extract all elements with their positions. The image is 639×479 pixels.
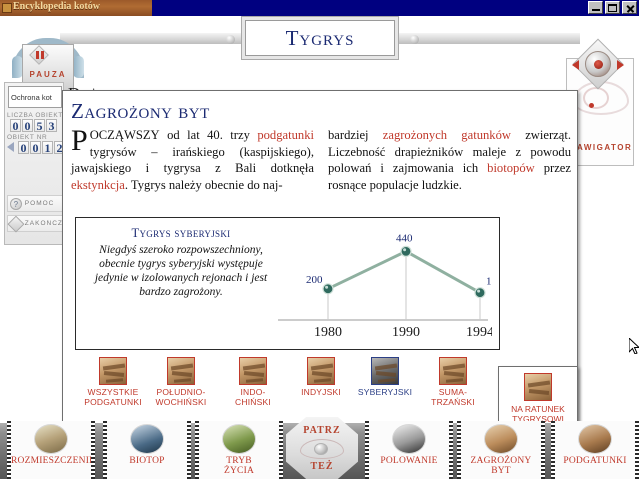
subspecies-label: SUMA-TRZAŃSKI [417,387,489,407]
subspecies-thumbnail-row: WSZYSTKIEPODGATUNKIPOŁUDNIO-WOCHIŃSKIIND… [77,357,547,423]
data-point [475,288,485,298]
app-title-text: Encyklopedia kotów [13,1,100,12]
line-chart-svg: 200440175 198019901994 [274,224,492,344]
bottom-nav-item[interactable]: BIOTOP [104,421,190,479]
endangered-icon [484,424,518,454]
question-mark-icon: ? [10,198,22,210]
application-window: Encyklopedia kotów Tygrys PAUZA [0,0,639,479]
tiger-thumb-icon [167,357,195,385]
window-titlebar: Encyklopedia kotów [0,0,639,16]
subspecies-item[interactable]: INDYJSKI [285,357,357,397]
x-tick-label: 1980 [314,325,342,340]
article-column-2: bardziej zagrożonych gatunków zwierząt. … [328,127,571,193]
subspecies-label: INDYJSKI [285,387,357,397]
bottom-nav-item[interactable]: POLOWANIE [366,421,452,479]
keyword-link-zagrozonych-gatunkow[interactable]: zagrożonych gatunków [383,128,511,142]
tiger-thumb-icon [439,357,467,385]
lifestyle-icon [222,424,256,454]
subspecies-item[interactable]: POŁUDNIO-WOCHIŃSKI [145,357,217,407]
habitat-icon [130,424,164,454]
bottom-nav-label: PODGATUNKI [555,456,635,466]
data-point-label: 440 [396,232,413,244]
pause-label: PAUZA [12,70,84,79]
keyword-link-podgatunki[interactable]: podgatunki [257,128,314,142]
help-label: POMOC [25,200,62,207]
bottom-nav-item[interactable]: TRYBŻYCIA [196,421,282,479]
chart-title: Tygrys syberyjski [86,226,276,241]
maximize-button[interactable] [605,1,620,14]
bottom-navigation-bar: ROZMIESZCZENIEBIOTOPTRYBŻYCIAPOLOWANIEZA… [0,423,639,479]
navigator-dial[interactable] [572,38,624,90]
x-tick-label: 1990 [392,325,420,340]
series-markers [323,246,485,297]
article-column-1: POCZĄWSZY od lat 40. trzy podgatunki tyg… [71,127,314,193]
subspecies-label: SYBERYJSKI [349,387,421,397]
hunting-icon [392,424,426,454]
maximize-icon [608,4,617,12]
arrow-right-icon[interactable] [617,60,624,70]
subspecies-label: POŁUDNIO-WOCHIŃSKI [145,387,217,407]
help-button[interactable]: ? POMOC [7,195,63,212]
window-controls [588,1,637,14]
chart-description: Tygrys syberyjski Niegdyś szeroko rozpow… [86,226,276,299]
minimize-icon [592,9,600,11]
subspecies-icon [578,424,612,454]
data-point [323,284,333,294]
app-title-banner: Encyklopedia kotów [0,0,152,16]
chart-plot: 200440175 198019901994 [274,224,492,344]
data-point-label: 175 [486,276,492,288]
object-count-label: LICZBA OBIEKT [7,112,65,119]
x-axis-tick-labels: 198019901994 [314,325,492,340]
panel-heading: Zagrożony byt [63,91,577,124]
see-also-label-line2: TEŻ [282,461,362,472]
bottom-nav-label: ROZMIESZCZENIE [11,456,91,466]
article-smallcaps-run: OCZĄWSZY [90,128,160,142]
search-input[interactable]: Ochrona kot [8,86,62,108]
article-text-run: . Tygrys należy obecnie do naj- [125,178,283,192]
mouse-cursor [629,338,639,354]
article-dropcap: P [71,127,90,153]
data-point-label: 200 [306,274,323,286]
see-also-label-line1: PATRZ [282,425,362,436]
navigator-knob[interactable] [585,51,611,77]
bottom-nav-label: TRYBŻYCIA [199,456,279,476]
quit-label: ZAKOŃCZ [25,220,62,227]
tiger-thumb-icon [239,357,267,385]
count-digit: 5 [34,119,45,132]
data-point [401,246,411,256]
object-number-value: 0 0 1 2 [18,141,65,154]
quit-button[interactable]: ZAKOŃCZ [7,215,63,232]
eye-pupil-icon [589,103,594,108]
bottom-nav-item[interactable]: PODGATUNKI [552,421,638,479]
arrow-left-icon[interactable] [572,60,579,70]
see-also-button[interactable]: PATRZ TEŻ [282,417,362,479]
eye-pupil-icon [314,443,328,455]
tiger-thumb-icon [371,357,399,385]
tiger-thumb-icon [524,373,552,401]
minimize-button[interactable] [588,1,603,14]
chart-caption: Niegdyś szeroko rozpowszechniony, obecni… [86,243,276,299]
left-toolbar: Ochrona kot LICZBA OBIEKT 0 0 5 3 OBIEKT… [4,82,64,245]
object-number-label: OBIEKT NR [7,134,65,141]
subspecies-item[interactable]: SYBERYJSKI [349,357,421,397]
chart-card: Tygrys syberyjski Niegdyś szeroko rozpow… [75,217,500,350]
article-text-run: od lat 40. trzy [160,128,258,142]
series-line [328,251,480,292]
object-digit: 0 [18,141,29,154]
tiger-thumb-icon [307,357,335,385]
bottom-nav-label: ZAGROŻONYBYT [461,456,541,476]
rail-knob-right [410,35,419,44]
bottom-nav-label: POLOWANIE [369,456,449,466]
app-icon [2,3,12,13]
count-digit: 0 [22,119,33,132]
article-text-run: tygrysów – irańskiego (kaspijskiego), ja… [71,145,314,176]
eye-iris-icon [583,87,609,109]
keyword-link-ekstynkcja[interactable]: ekstynkcja [71,178,125,192]
bottom-nav-item[interactable]: ROZMIESZCZENIE [8,421,94,479]
world-map-icon [34,424,68,454]
object-digit: 1 [42,141,53,154]
page-title: Tygrys [286,26,355,51]
tiger-thumb-icon [99,357,127,385]
close-button[interactable] [622,1,637,14]
bottom-nav-label: BIOTOP [107,456,187,466]
object-digit: 0 [30,141,41,154]
data-point-highlight [325,286,328,289]
bottom-nav-item[interactable]: ZAGROŻONYBYT [458,421,544,479]
navigator-knob-center-icon [594,60,603,69]
keyword-link-biotopow[interactable]: biotopów [487,161,535,175]
article-text-run: bardziej [328,128,383,142]
subspecies-item[interactable]: WSZYSTKIEPODGATUNKI [77,357,149,407]
exit-icon [7,215,24,232]
data-point-highlight [477,290,480,293]
count-digit: 3 [46,119,57,132]
subspecies-label: WSZYSTKIEPODGATUNKI [77,387,149,407]
pause-icon [36,51,45,59]
x-tick-label: 1994 [466,325,492,340]
application-body: Tygrys PAUZA NAWIGATOR [0,16,639,479]
series-value-labels: 200440175 [306,232,492,287]
count-digit: 0 [10,119,21,132]
subspecies-item[interactable]: SUMA-TRZAŃSKI [417,357,489,407]
article-columns: POCZĄWSZY od lat 40. trzy podgatunki tyg… [71,127,571,193]
previous-object-button[interactable] [7,142,14,152]
subspecies-item[interactable]: INDO-CHIŃSKI [217,357,289,407]
subspecies-label: INDO-CHIŃSKI [217,387,289,407]
page-title-plate: Tygrys [245,20,395,56]
object-count-value: 0 0 5 3 [10,119,57,132]
rail-knob-left [226,35,235,44]
data-point-highlight [403,248,406,251]
